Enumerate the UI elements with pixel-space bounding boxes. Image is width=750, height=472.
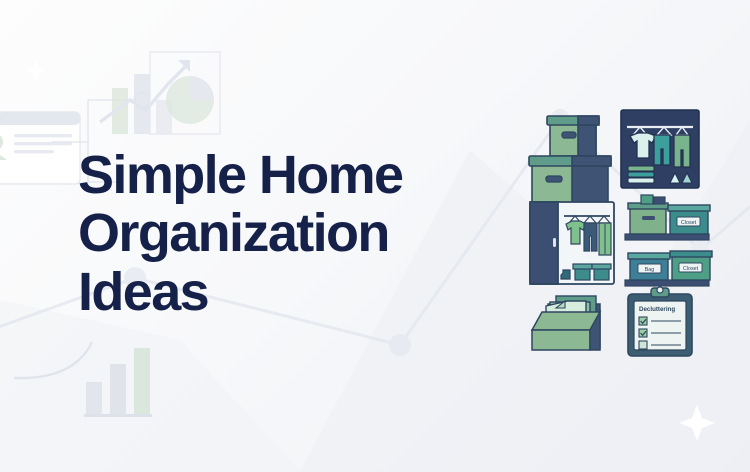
bin-label: Closet: [681, 220, 697, 226]
curve-line: [14, 342, 92, 378]
banner: Simple Home Organization Ideas: [0, 0, 750, 472]
clipboard-checklist-icon: Decluttering: [628, 287, 692, 356]
sparkle-star-icon: [679, 405, 715, 441]
storage-boxes-icon: [529, 116, 611, 204]
chart-frame: [150, 52, 220, 134]
wardrobe-icon: [530, 202, 614, 284]
clipboard-heading: Decluttering: [639, 306, 675, 313]
browser-window-card-icon: [0, 112, 80, 184]
bar-chart-bottom-icon: [84, 348, 152, 417]
background-diagonal-shape-2: [0, 300, 300, 472]
pie-chart-icon: [166, 76, 214, 124]
bin-label: Bag: [645, 267, 655, 273]
sparkle-star-icon-2: [25, 60, 47, 82]
closet-panel-icon: [621, 110, 699, 188]
illustration-cluster: Closet Bag Closet: [518, 98, 714, 360]
rising-arrow-icon: [100, 60, 190, 122]
documents-folder-icon: [532, 296, 600, 350]
labeled-bins-icon: Closet Bag Closet: [625, 195, 712, 286]
bin-label: Closet: [683, 266, 699, 272]
bar-chart-icon: [112, 74, 172, 134]
page-title: Simple Home Organization Ideas: [78, 146, 518, 321]
